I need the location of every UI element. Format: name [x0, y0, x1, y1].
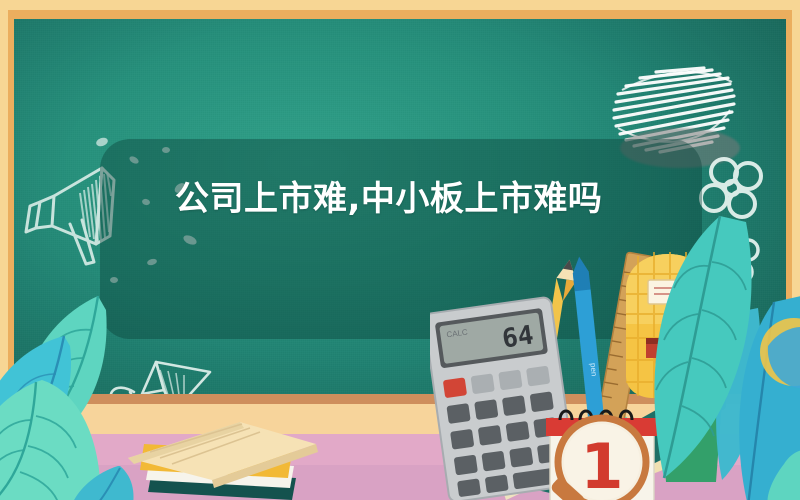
tropical-leaves-right-icon [570, 206, 800, 500]
poster-canvas: 公司上市难,中小板上市难吗 [0, 0, 800, 500]
svg-text:64: 64 [500, 320, 535, 354]
stacked-books-icon [120, 396, 340, 500]
